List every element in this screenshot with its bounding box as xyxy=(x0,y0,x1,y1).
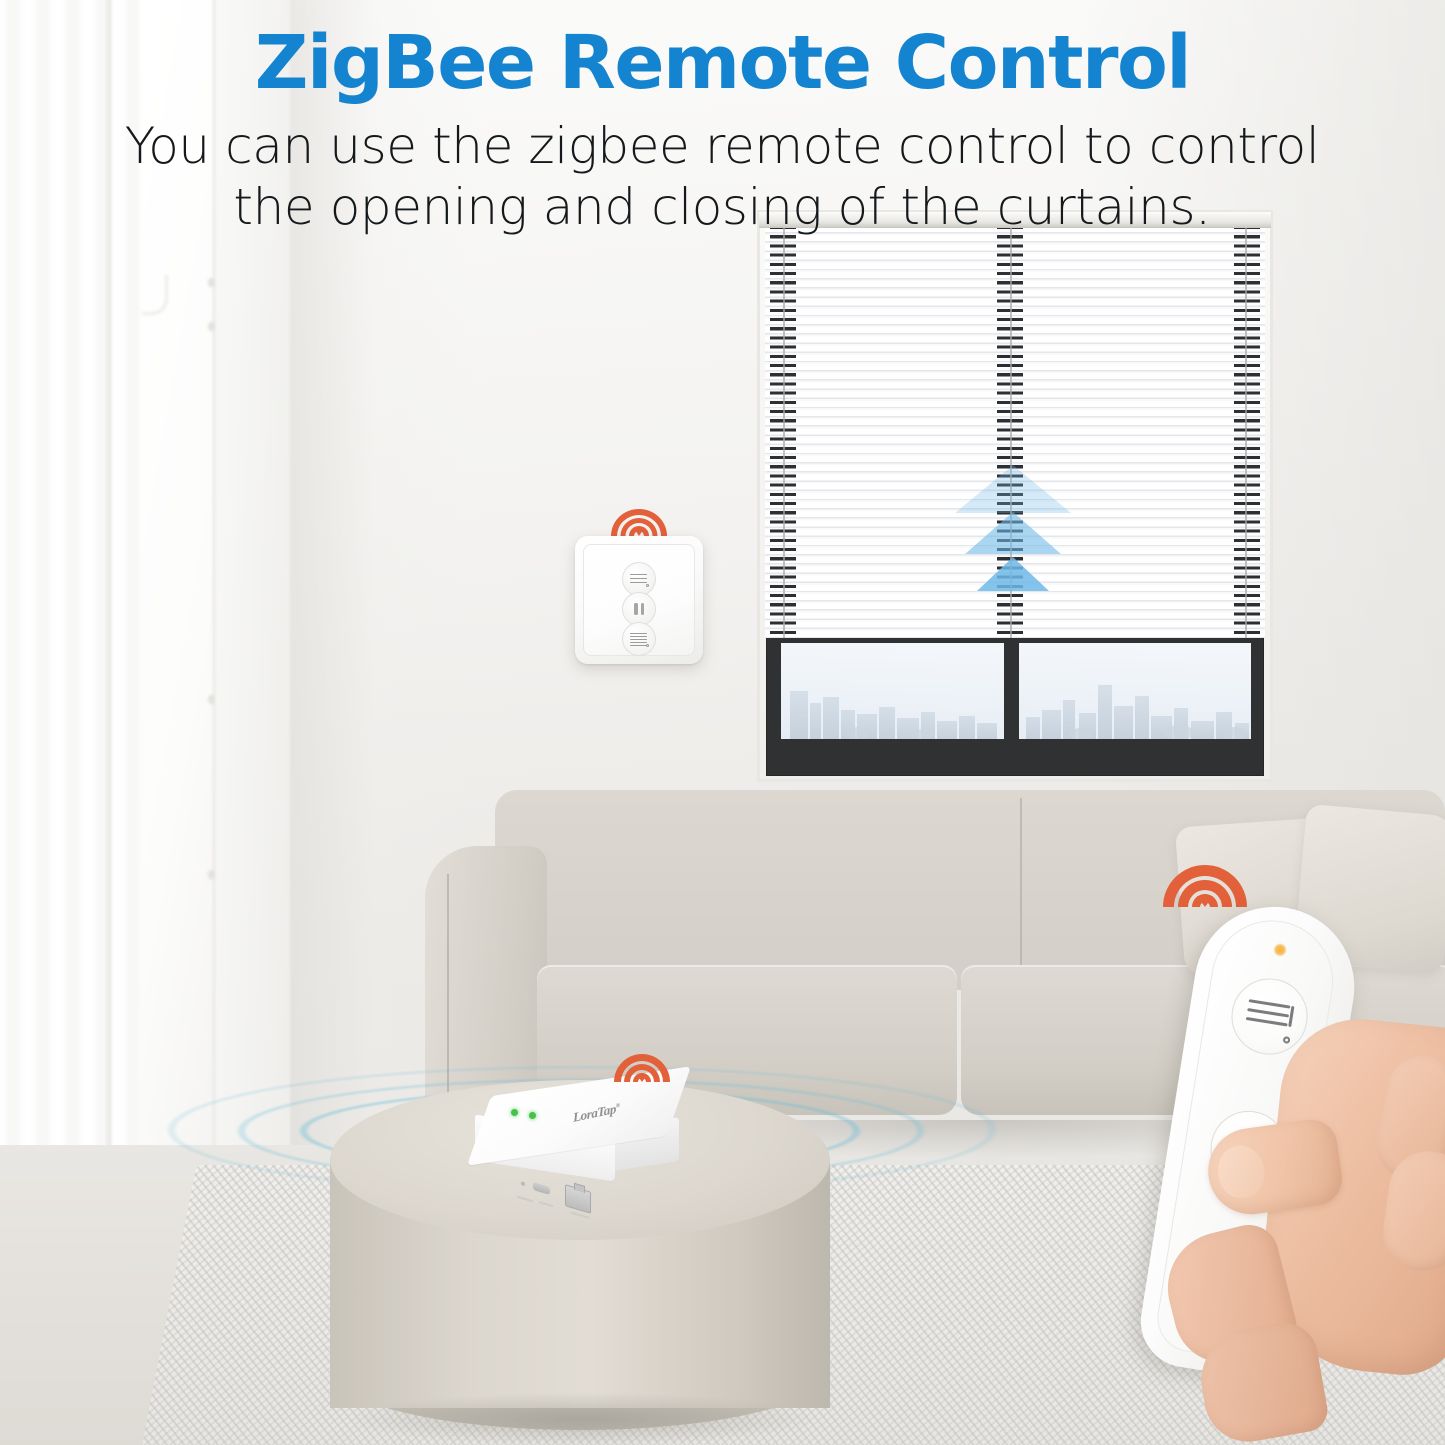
zigbee-gateway-hub[interactable]: LoraTap® xyxy=(455,1083,690,1193)
blinds-window xyxy=(757,210,1273,782)
thumbnail xyxy=(1215,1143,1268,1201)
window-hinge xyxy=(208,322,215,331)
curtain-close-icon xyxy=(630,632,649,647)
blind-ladder-tape xyxy=(1234,226,1260,638)
subtitle-line-2: the opening and closing of the curtains. xyxy=(72,177,1372,238)
window-hinge xyxy=(208,695,215,704)
hand-holding-remote xyxy=(1150,935,1445,1445)
window-handle-icon xyxy=(142,275,168,315)
curtain-open-icon xyxy=(630,572,649,587)
switch-wifi-signal-icon xyxy=(610,504,668,536)
city-skyline-view xyxy=(1019,678,1251,739)
switch-pause-button[interactable] xyxy=(622,592,656,626)
switch-faceplate xyxy=(583,544,695,656)
pause-icon xyxy=(634,603,644,615)
page-title: ZigBee Remote Control xyxy=(0,26,1445,100)
sofa-seam xyxy=(1020,798,1022,980)
switch-close-button[interactable] xyxy=(622,622,656,656)
zigbee-wall-switch[interactable] xyxy=(575,536,703,664)
blind-cord xyxy=(783,226,785,638)
reset-pinhole-icon[interactable] xyxy=(521,1181,525,1186)
window-pane-right xyxy=(1019,643,1251,739)
blind-cord xyxy=(1245,226,1247,638)
switch-open-button[interactable] xyxy=(622,562,656,596)
hub-brand-mark: ® xyxy=(616,1103,621,1110)
page-subtitle: You can use the zigbee remote control to… xyxy=(72,116,1372,238)
city-skyline-view xyxy=(781,678,1004,739)
status-led-2 xyxy=(529,1112,536,1119)
ottoman-shadow xyxy=(344,1392,818,1445)
window-hinge xyxy=(208,278,215,287)
blind-cord xyxy=(1010,226,1012,638)
status-led-1 xyxy=(511,1109,518,1116)
gateway-wifi-signal-icon xyxy=(614,1040,670,1082)
remote-and-hand xyxy=(1150,895,1445,1445)
window-pane-left xyxy=(781,643,1004,739)
window-dark-frame xyxy=(766,630,1264,776)
subtitle-line-1: You can use the zigbee remote control to… xyxy=(72,116,1372,177)
product-marketing-scene: LoraTap® xyxy=(0,0,1445,1445)
window-hinge xyxy=(208,870,215,879)
